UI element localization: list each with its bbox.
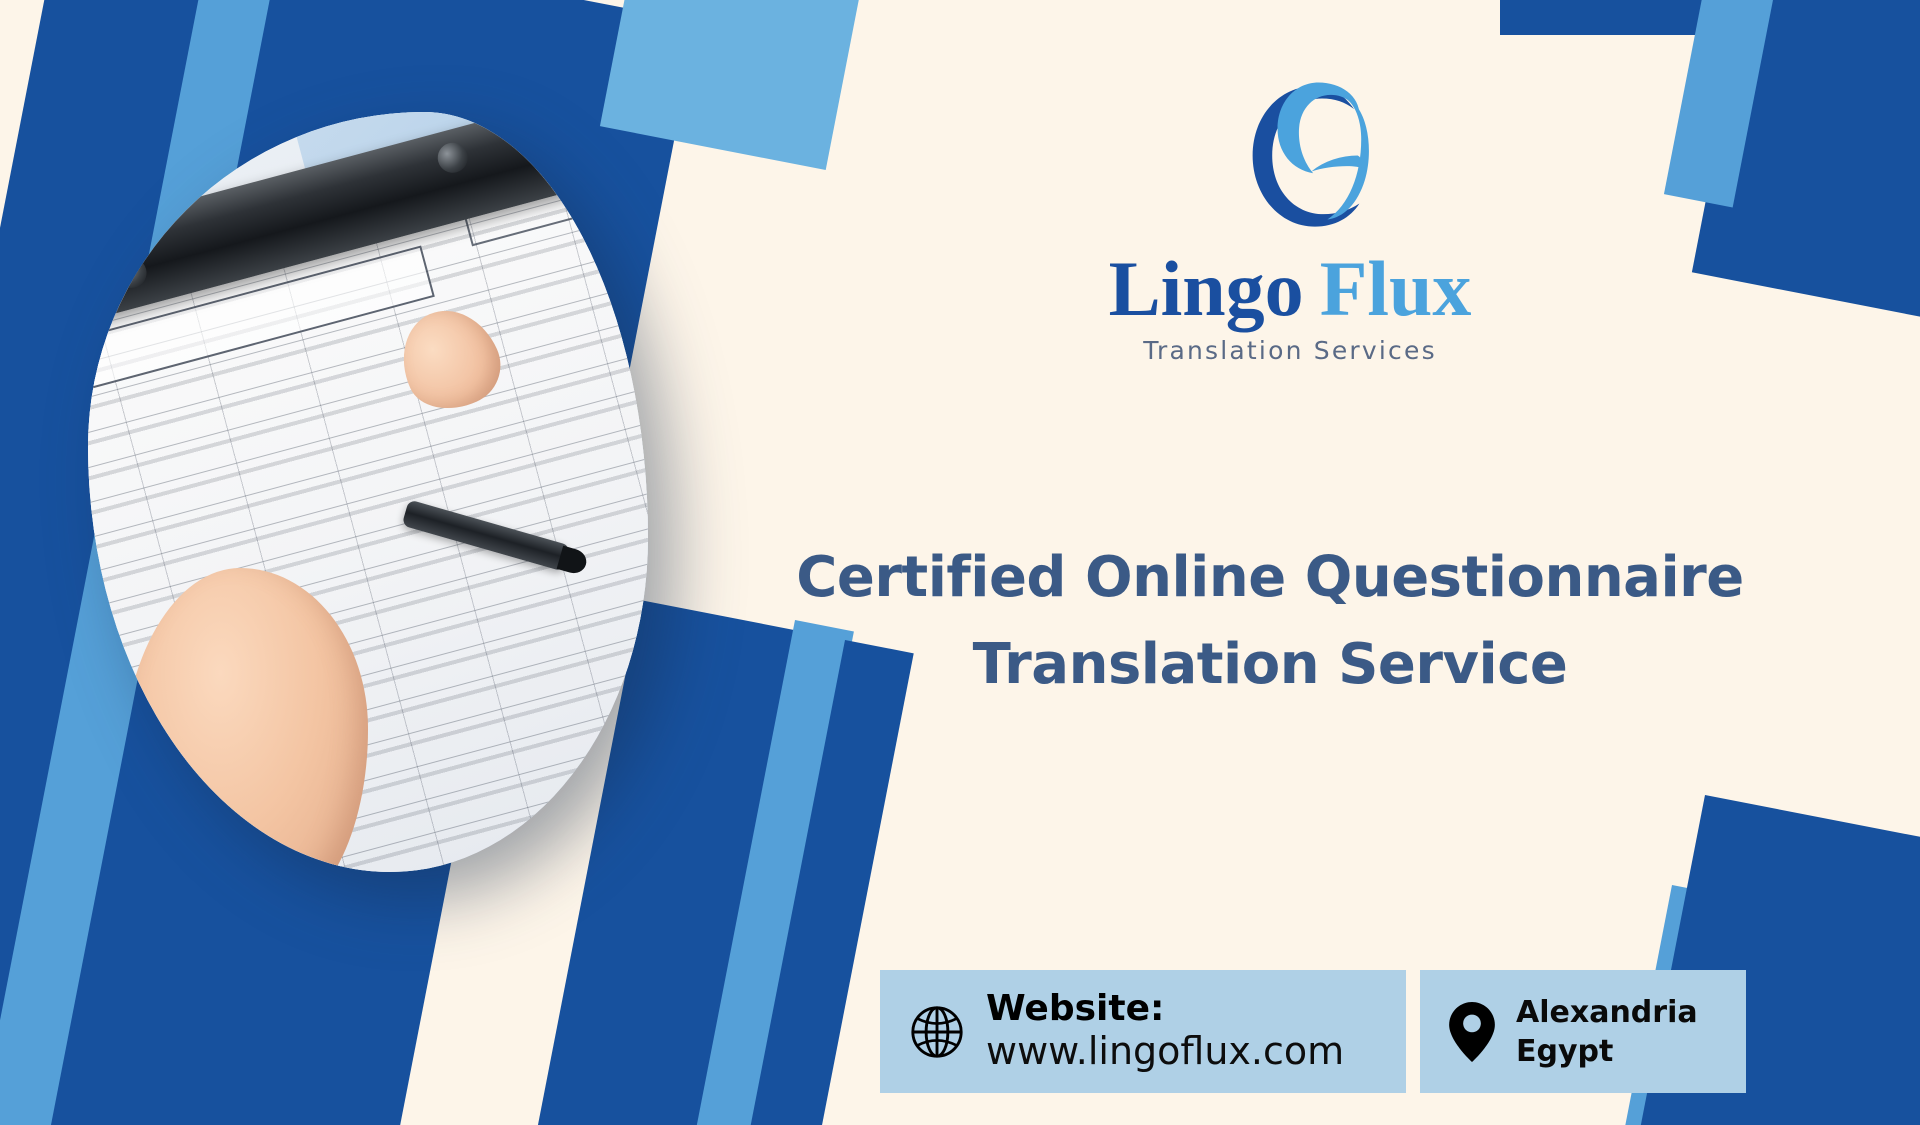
map-pin-icon <box>1448 1002 1496 1062</box>
footer-contact-row: Website: www.lingoflux.com Alexandria Eg… <box>880 970 1746 1093</box>
location-country: Egypt <box>1516 1032 1698 1071</box>
promotional-banner: LingoFlux Translation Services Certified… <box>0 0 1920 1125</box>
location-panel[interactable]: Alexandria Egypt <box>1420 970 1746 1093</box>
website-url[interactable]: www.lingoflux.com <box>986 1029 1344 1075</box>
hero-photo <box>88 112 648 872</box>
headline-line-1: Certified Online Questionnaire <box>700 535 1840 622</box>
wordmark: LingoFlux <box>1080 250 1500 328</box>
brand-tagline: Translation Services <box>1080 336 1500 365</box>
decor-topright-dark-wedge <box>1692 0 1920 352</box>
wordmark-flux: Flux <box>1320 245 1472 332</box>
decor-left-cream-edge <box>0 0 48 1125</box>
brand-logo: LingoFlux Translation Services <box>1080 70 1500 365</box>
website-text-group: Website: www.lingoflux.com <box>986 988 1344 1075</box>
globe-icon <box>908 1003 966 1061</box>
website-label: Website: <box>986 988 1344 1029</box>
clipboard-rivet-left <box>113 255 150 292</box>
headline-line-2: Translation Service <box>700 622 1840 709</box>
wordmark-lingo: Lingo <box>1109 245 1304 332</box>
clipboard-rivet-right <box>434 139 471 176</box>
decor-top-dark-band <box>1500 0 1920 35</box>
location-city: Alexandria <box>1516 993 1698 1032</box>
hero-photo-blob <box>88 112 648 872</box>
page-title: Certified Online Questionnaire Translati… <box>700 535 1840 709</box>
decor-topright-light-stripe <box>1664 0 1794 207</box>
lingoflux-monogram-icon <box>1201 70 1379 248</box>
website-panel[interactable]: Website: www.lingoflux.com <box>880 970 1406 1093</box>
location-text-group: Alexandria Egypt <box>1516 993 1698 1071</box>
